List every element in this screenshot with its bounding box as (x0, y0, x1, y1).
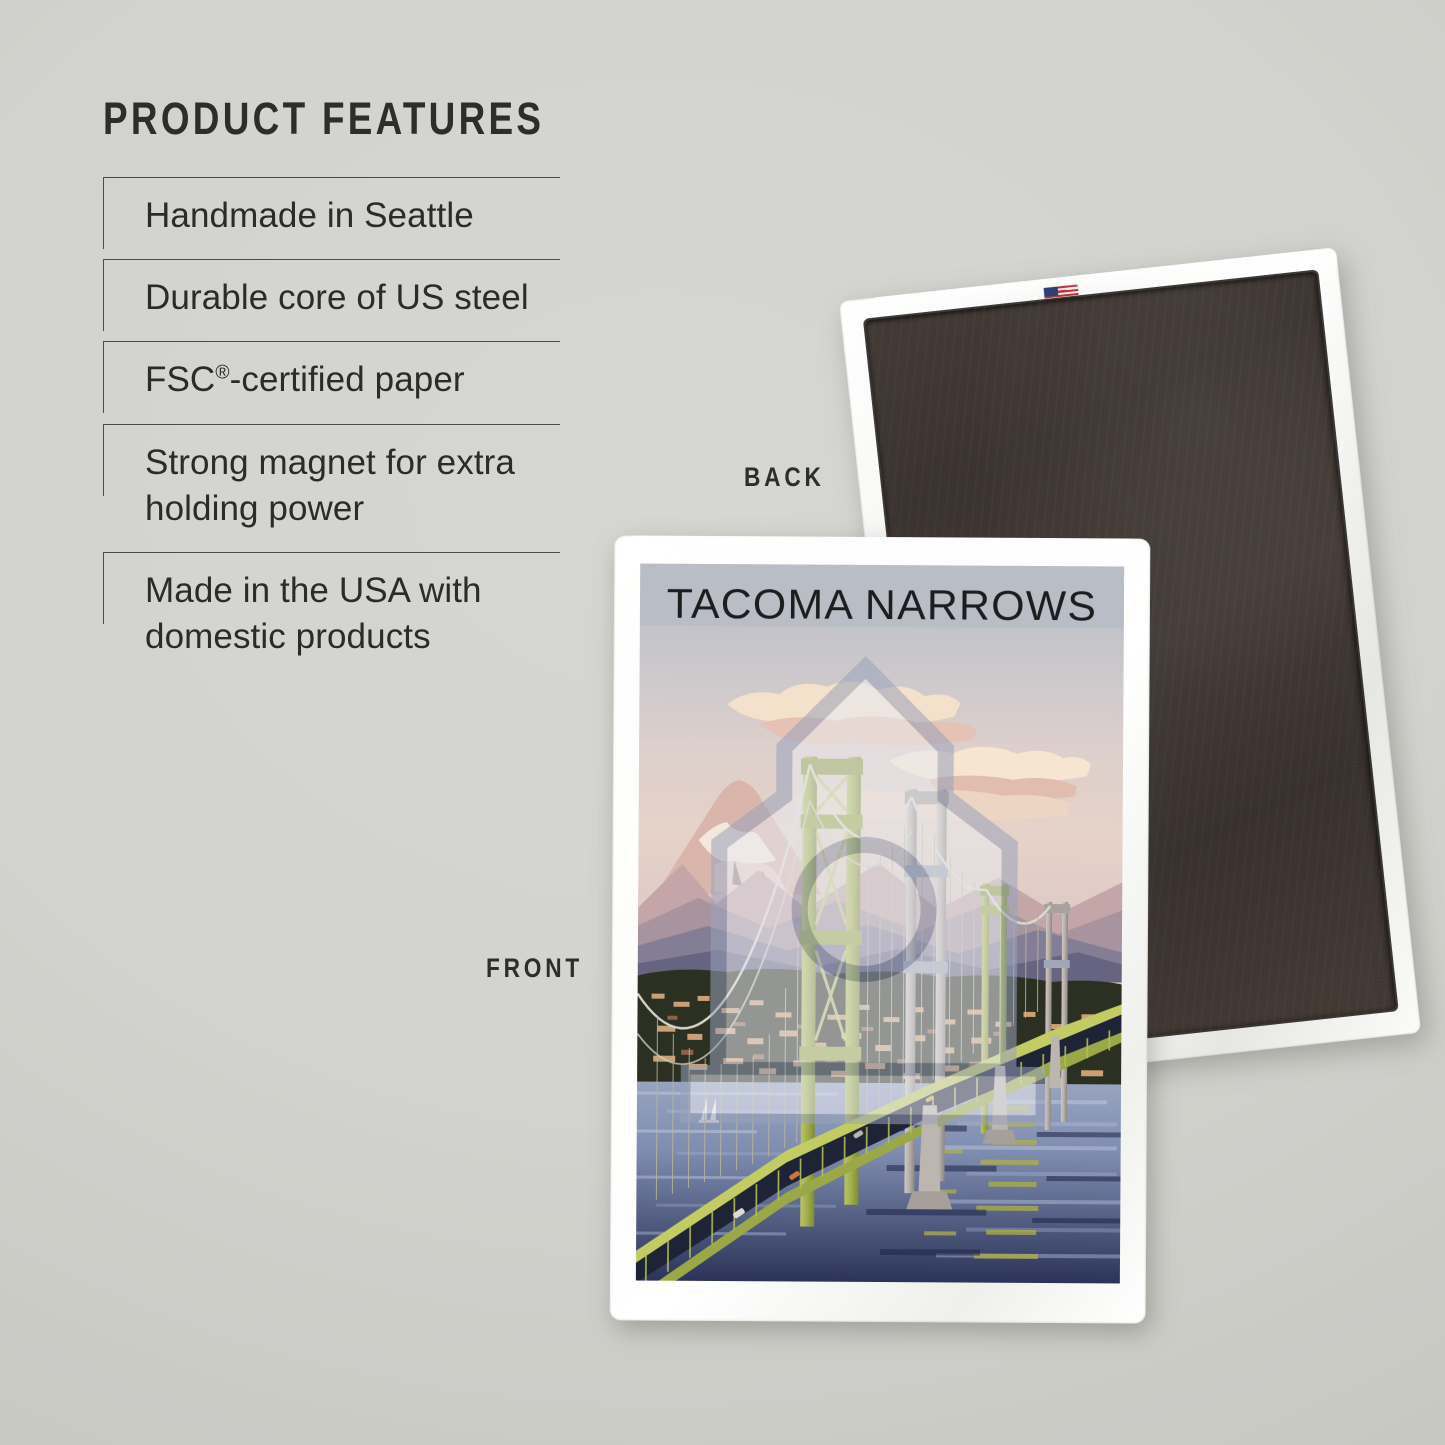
list-item: Durable core of US steel (103, 259, 573, 341)
divider-rule (103, 552, 560, 553)
bracket-tick (103, 259, 104, 331)
list-item: Handmade in Seattle (103, 177, 573, 259)
feature-label: FSC®-certified paper (145, 357, 573, 403)
flag-canton (1044, 287, 1059, 297)
list-item: Made in the USA with domestic products (103, 552, 573, 680)
callout-label-back: BACK (744, 462, 825, 493)
divider-rule (103, 424, 560, 425)
callout-label-front: FRONT (486, 953, 583, 984)
bracket-tick (103, 552, 104, 624)
feature-list: Handmade in Seattle Durable core of US s… (103, 177, 573, 680)
product-feature-image: PRODUCT FEATURES Handmade in Seattle Dur… (0, 0, 1445, 1445)
magnet-front: TACOMA NARROWS (610, 535, 1151, 1323)
poster-artwork: TACOMA NARROWS (636, 564, 1124, 1284)
list-item: Strong magnet for extra holding power (103, 424, 573, 552)
feature-label: Made in the USA with domestic products (145, 568, 573, 660)
page-title: PRODUCT FEATURES (103, 96, 488, 141)
bracket-tick (103, 341, 104, 413)
feature-label: Strong magnet for extra holding power (145, 440, 573, 532)
divider-rule (103, 259, 560, 260)
divider-rule (103, 177, 560, 178)
bracket-tick (103, 424, 104, 496)
feature-label: Handmade in Seattle (145, 193, 573, 239)
lantern-press-logo (636, 564, 1108, 1270)
list-item: FSC®-certified paper (103, 341, 573, 423)
divider-rule (103, 341, 560, 342)
feature-label: Durable core of US steel (145, 275, 573, 321)
bracket-tick (103, 177, 104, 249)
product-features-panel: PRODUCT FEATURES Handmade in Seattle Dur… (103, 96, 573, 680)
